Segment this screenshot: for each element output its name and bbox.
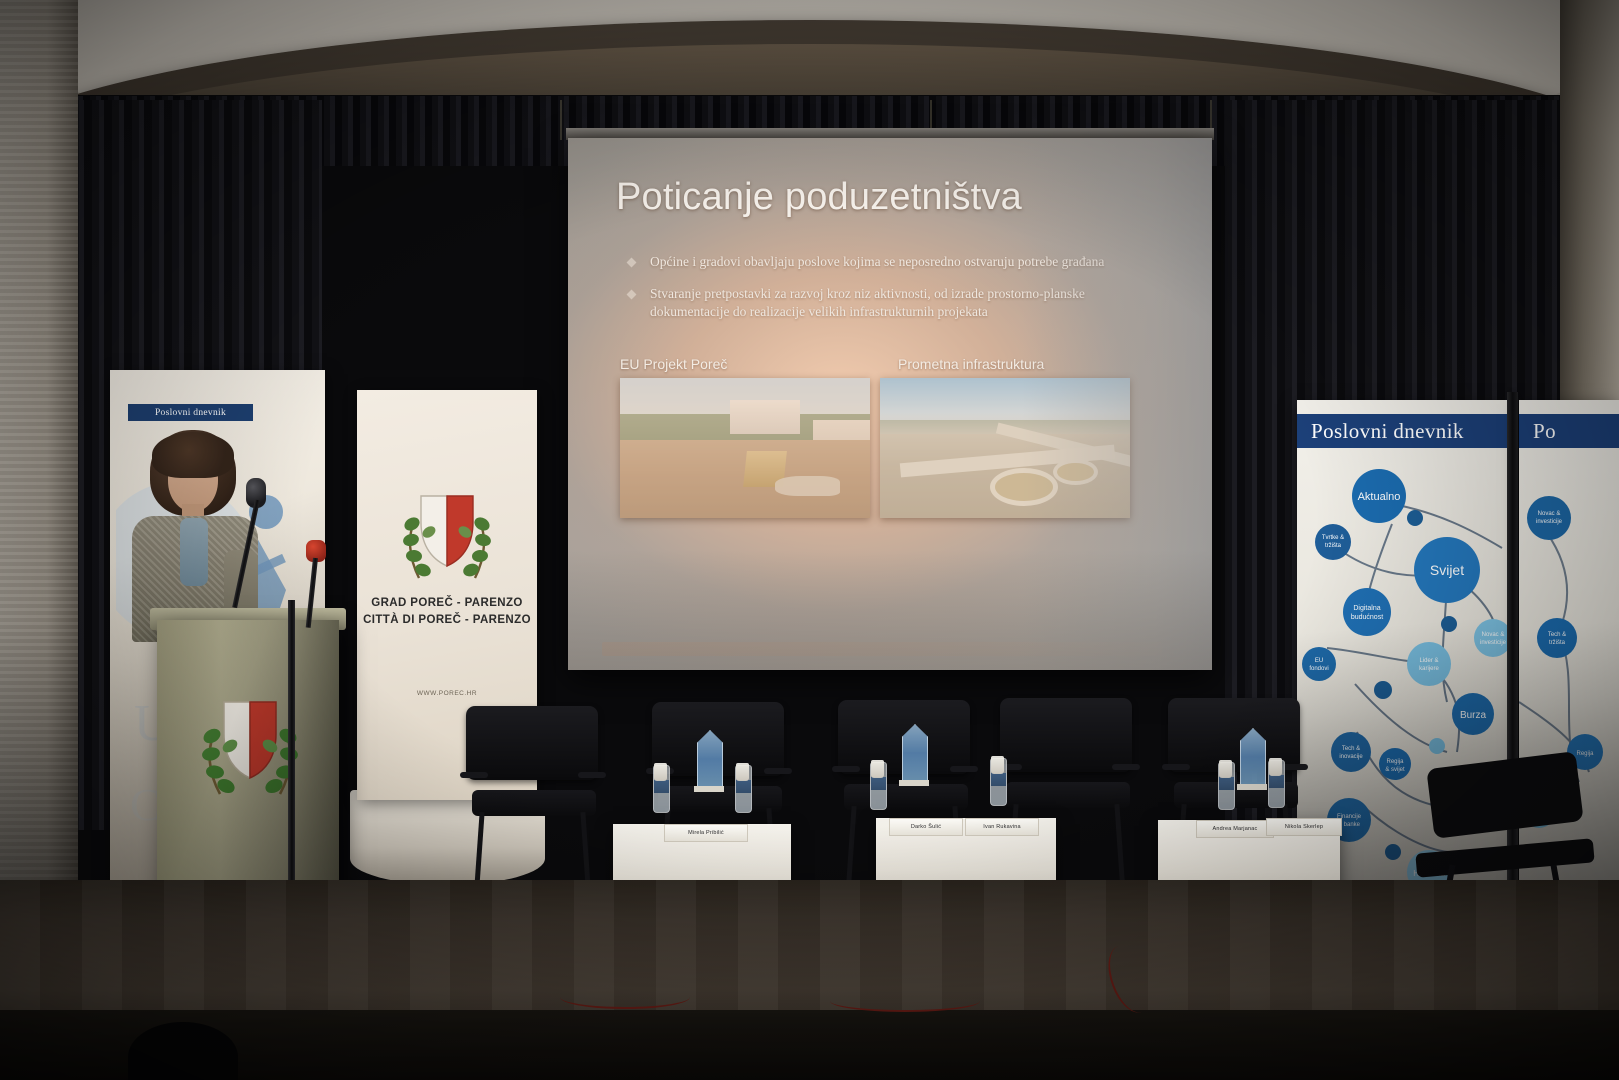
chair-back [1426,751,1583,839]
nameplate-text: Darko Šulić [911,824,941,830]
nameplate-text: Nikola Skerlep [1285,824,1323,830]
nameplate: Nikola Skerlep [1266,818,1342,836]
drinking-glass [1219,760,1232,778]
photo-warm-tint [620,378,870,518]
drinking-glass [871,760,884,778]
drinking-glass [1269,758,1282,776]
banner-porec-line1: GRAD POREČ - PARENZO [357,595,537,612]
floor-cable [560,985,690,1009]
nameplate: Ivan Rukavina [965,818,1039,836]
banner-porec-title: GRAD POREČ - PARENZO CITTÀ DI POREČ - PA… [357,595,537,628]
bottle-label [991,773,1006,786]
chair-seat [1006,782,1130,808]
speaker-scarf [180,518,208,586]
chair-seat [472,790,596,816]
award-base [694,786,724,792]
bottle-label [871,777,886,790]
speaker-hair-front [152,432,234,478]
chair-armrest [764,768,792,774]
banner-porec-line2: CITTÀ DI POREČ - PARENZO [357,612,537,629]
banner-porec-url: WWW.POREC.HR [357,690,537,697]
hanging-cable [560,100,562,140]
slide-photo-construction [620,378,870,518]
nameplate: Darko Šulić [889,818,963,836]
slide-caption-left: EU Projekt Poreč [620,356,727,372]
bottle-label [1269,775,1284,788]
drinking-glass [991,756,1004,774]
chair-armrest [832,766,860,772]
chair-seat [1415,838,1594,877]
nameplate-text: Ivan Rukavina [983,824,1020,830]
bottle-label [654,780,669,793]
conference-stage-photo: Poticanje poduzetništva Općine i gradovi… [0,0,1619,1080]
chair-seat [844,784,968,810]
floor-cable [830,990,980,1012]
chair-armrest [950,766,978,772]
chair-armrest [460,772,488,778]
screen-falloff-bottom [568,550,1212,670]
award-base [1237,784,1267,790]
nameplate: Mirela Pribilić [664,824,748,842]
bottle-label [1219,777,1234,790]
chair-back [466,706,598,780]
bottle-label [736,780,751,793]
projection-screen: Poticanje poduzetništva Općine i gradovi… [568,138,1212,670]
nameplate-text: Andrea Marjanac [1213,826,1258,832]
drinking-glass [654,763,667,781]
award-base [899,780,929,786]
chair-armrest [1162,764,1190,770]
chair-back [1000,698,1132,772]
chair-armrest [1112,764,1140,770]
stage-front-edge [0,1010,1619,1080]
speaker-presenter [128,430,278,630]
porec-coat-of-arms-icon [395,470,499,588]
chair-armrest [578,772,606,778]
drinking-glass [736,763,749,781]
nameplate-text: Mirela Pribilić [688,830,724,836]
nameplate: Andrea Marjanac [1196,820,1274,838]
